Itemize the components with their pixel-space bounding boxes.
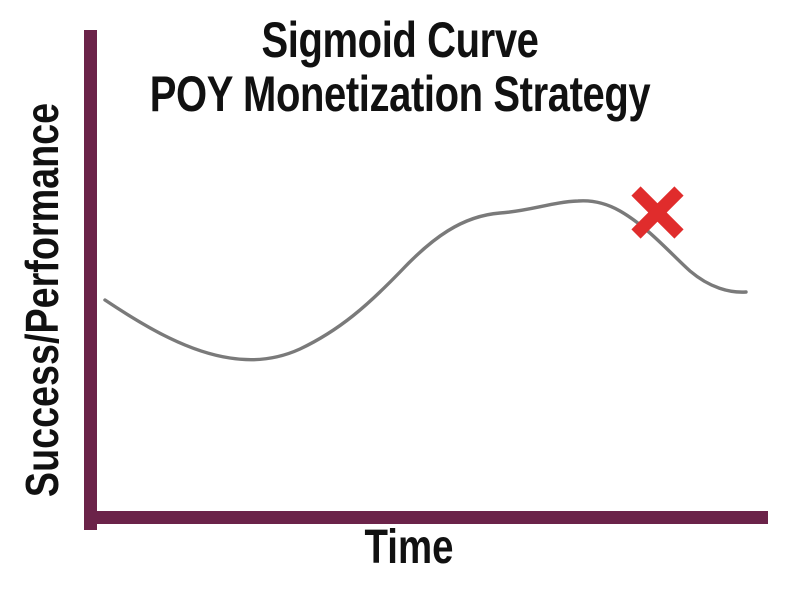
x-axis-label: Time [82, 524, 736, 572]
chart-canvas: Sigmoid Curve POY Monetization Strategy … [0, 0, 800, 600]
decline-warning-x-icon [636, 191, 679, 234]
y-axis-label: Success/Performance [19, 103, 65, 497]
y-axis-line [84, 30, 97, 530]
y-axis-label-container: Success/Performance [0, 0, 84, 600]
plot-area [0, 0, 800, 600]
